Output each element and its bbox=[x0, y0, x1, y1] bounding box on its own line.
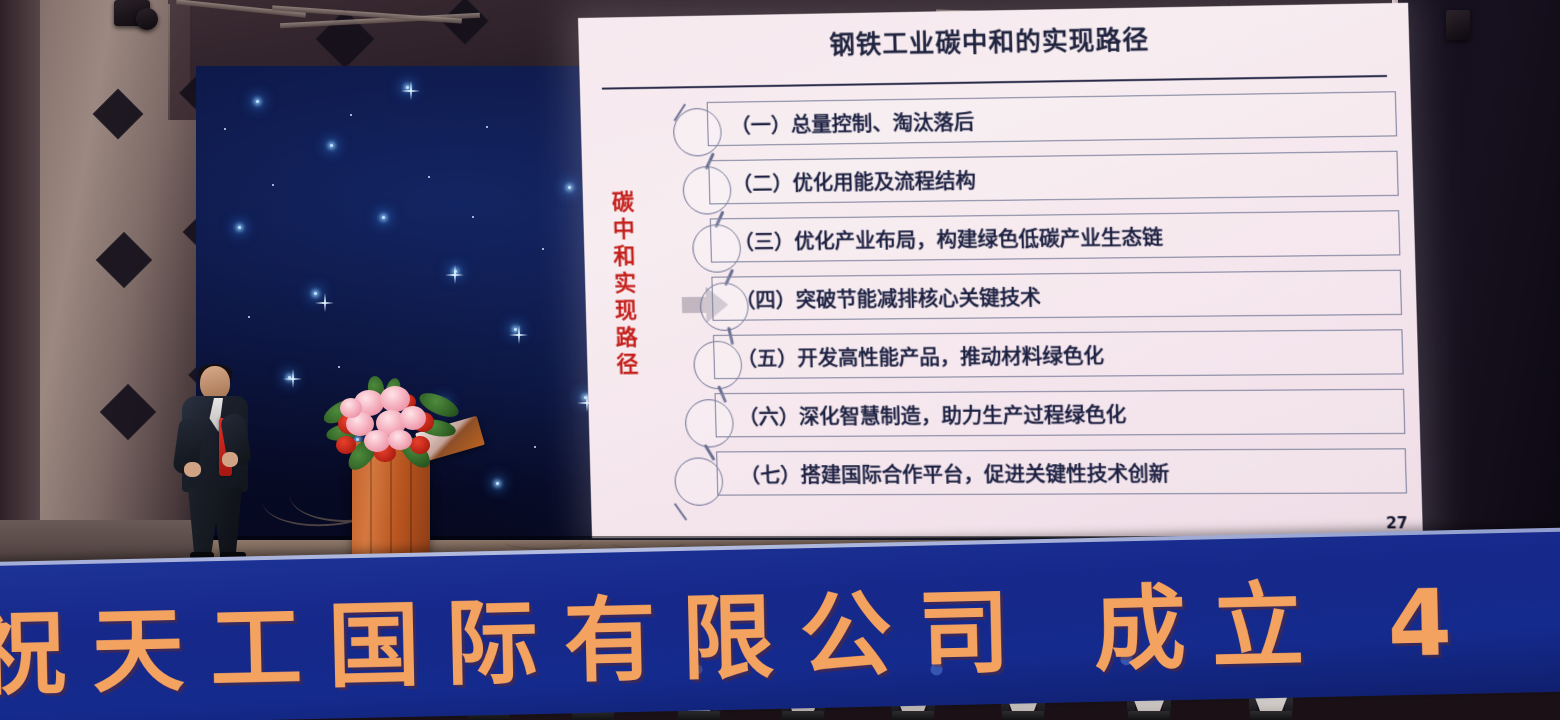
presentation-slide: 钢铁工业碳中和的实现路径 碳中和实现路径 bbox=[578, 3, 1423, 538]
floor-cable bbox=[504, 534, 584, 550]
path-item-label: （六）深化智慧制造，助力生产过程绿色化 bbox=[716, 398, 1127, 430]
banner-text: 祝天工国际有限公司 成立 4 bbox=[0, 548, 1479, 714]
path-item-label: （五）开发高性能产品，推动材料绿色化 bbox=[714, 339, 1104, 371]
presenter-legs bbox=[188, 488, 242, 558]
title-divider bbox=[602, 75, 1387, 90]
path-item-label: （一）总量控制、淘汰落后 bbox=[708, 105, 975, 138]
projection-screen: 钢铁工业碳中和的实现路径 碳中和实现路径 bbox=[578, 3, 1423, 538]
path-item[interactable]: （三）优化产业布局，构建绿色低碳产业生态链 bbox=[710, 210, 1401, 262]
path-item[interactable]: （七）搭建国际合作平台，促进关键性技术创新 bbox=[716, 448, 1407, 495]
venue-wall-right bbox=[1398, 0, 1560, 570]
path-item-label: （七）搭建国际合作平台，促进关键性技术创新 bbox=[717, 457, 1169, 488]
stage-photo: 钢铁工业碳中和的实现路径 碳中和实现路径 bbox=[0, 0, 1560, 720]
truss-cable bbox=[168, 4, 170, 164]
path-item[interactable]: （六）深化智慧制造，助力生产过程绿色化 bbox=[715, 389, 1406, 438]
slide-title: 钢铁工业碳中和的实现路径 bbox=[578, 15, 1409, 66]
presenter-hand-right bbox=[222, 452, 238, 467]
path-item[interactable]: （一）总量控制、淘汰落后 bbox=[707, 91, 1397, 146]
slide-page-number: 27 bbox=[1386, 514, 1408, 533]
path-item-highlighted[interactable]: （四）突破节能减排核心关键技术 bbox=[711, 270, 1402, 321]
event-banner: 祝天工国际有限公司 成立 4 bbox=[0, 527, 1560, 720]
presenter-head bbox=[200, 366, 230, 400]
path-item[interactable]: （二）优化用能及流程结构 bbox=[708, 151, 1398, 205]
path-item-label: （四）突破节能减排核心关键技术 bbox=[713, 281, 1041, 313]
path-item-label: （二）优化用能及流程结构 bbox=[709, 164, 976, 197]
path-item[interactable]: （五）开发高性能产品，推动材料绿色化 bbox=[713, 329, 1404, 379]
venue-wall-left-edge bbox=[0, 0, 40, 560]
flower-arrangement bbox=[322, 376, 458, 468]
vertical-section-label: 碳中和实现路径 bbox=[605, 189, 646, 379]
presenter-hand-left bbox=[184, 462, 201, 477]
path-item-label: （三）优化产业布局，构建绿色低碳产业生态链 bbox=[711, 221, 1163, 255]
hanging-stage-light bbox=[1446, 10, 1470, 40]
presenter bbox=[168, 366, 264, 556]
hanging-stage-light bbox=[136, 8, 158, 30]
path-item-list: （一）总量控制、淘汰落后 （二）优化用能及流程结构 （三）优化产业布局，构建绿色… bbox=[707, 91, 1408, 509]
